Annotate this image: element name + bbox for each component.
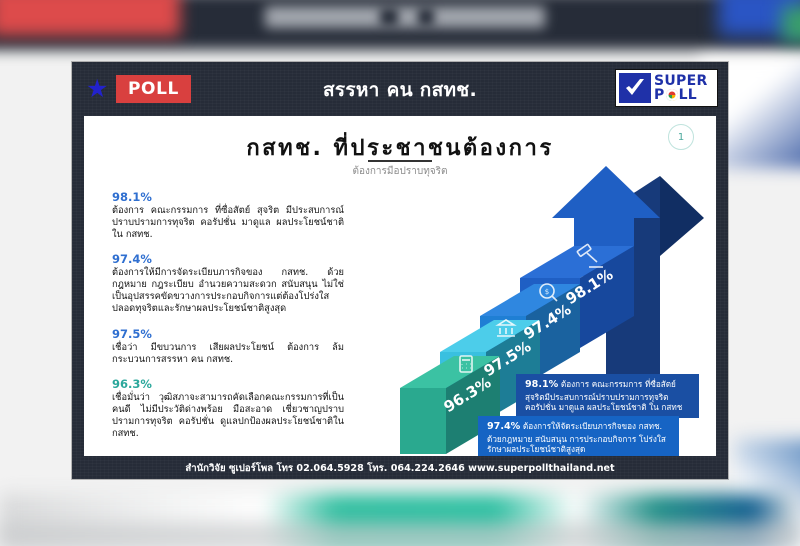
superpoll-poll-text: P LL xyxy=(654,88,708,102)
callout-percent: 97.4% xyxy=(487,421,520,432)
stat-percent: 97.5% xyxy=(112,327,344,341)
stat-block: 96.3% เชื่อมั่นว่า วุฒิสภาจะสามารถคัดเลื… xyxy=(112,377,344,440)
page-number-badge: 1 xyxy=(668,124,694,150)
svg-text:$: $ xyxy=(545,288,549,296)
stat-text: เชื่อว่า มีขบวนการ เสียผลประโยชน์ ต้องกา… xyxy=(112,342,344,366)
background-bottom-shadow xyxy=(0,524,800,546)
background-green-blob xyxy=(782,6,800,42)
callout-percent: 98.1% xyxy=(525,379,558,390)
footer-text: สำนักวิจัย ซูเปอร์โพล โทร 02.064.5928 โท… xyxy=(185,461,614,476)
background-title-blur xyxy=(265,6,545,28)
slide-header: ★ POLL สรรหา คน กสทช. SUPER P LL xyxy=(72,62,728,114)
stat-text: ต้องการให้มีการจัดระเบียบภารกิจของ กสทช.… xyxy=(112,267,344,315)
callout-98: 98.1% ต้องการ คณะกรรมการ ที่ซื่อสัตย์ สุ… xyxy=(516,374,699,418)
stat-text: ต้องการ คณะกรรมการ ที่ซื่อสัตย์ สุจริต ม… xyxy=(112,205,344,241)
superpoll-ll-letters: LL xyxy=(679,88,697,102)
background-title-gap-b xyxy=(418,8,434,26)
superpoll-wordmark: SUPER P LL xyxy=(654,74,708,102)
stat-percent: 98.1% xyxy=(112,190,344,204)
background-red-blob xyxy=(0,0,180,36)
superpoll-super-text: SUPER xyxy=(654,74,708,88)
stat-block: 97.4% ต้องการให้มีการจัดระเบียบภารกิจของ… xyxy=(112,252,344,315)
left-text-column: 98.1% ต้องการ คณะกรรมการ ที่ซื่อสัตย์ สุ… xyxy=(112,190,344,451)
stat-percent: 97.4% xyxy=(112,252,344,266)
stat-block: 97.5% เชื่อว่า มีขบวนการ เสียผลประโยชน์ … xyxy=(112,327,344,366)
stat-text: เชื่อมั่นว่า วุฒิสภาจะสามารถคัดเลือกคณะก… xyxy=(112,392,344,440)
color-wheel-icon xyxy=(666,89,678,101)
slide-frame: ★ POLL สรรหา คน กสทช. SUPER P LL กสทช. ท… xyxy=(72,62,728,479)
stat-block: 98.1% ต้องการ คณะกรรมการ ที่ซื่อสัตย์ สุ… xyxy=(112,190,344,241)
slide-footer: สำนักวิจัย ซูเปอร์โพล โทร 02.064.5928 โท… xyxy=(72,458,728,479)
superpoll-p-letter: P xyxy=(654,88,665,102)
stat-percent: 96.3% xyxy=(112,377,344,391)
superpoll-logo: SUPER P LL xyxy=(615,69,718,107)
callout-974: 97.4% ต้องการให้จัดระเบียบภารกิจของ กสทช… xyxy=(478,416,679,456)
slide-canvas: กสทช. ที่ประชาชนต้องการ ต้องการมือปราบทุ… xyxy=(84,116,716,456)
check-icon xyxy=(619,73,651,103)
background-title-gap-a xyxy=(380,8,398,26)
